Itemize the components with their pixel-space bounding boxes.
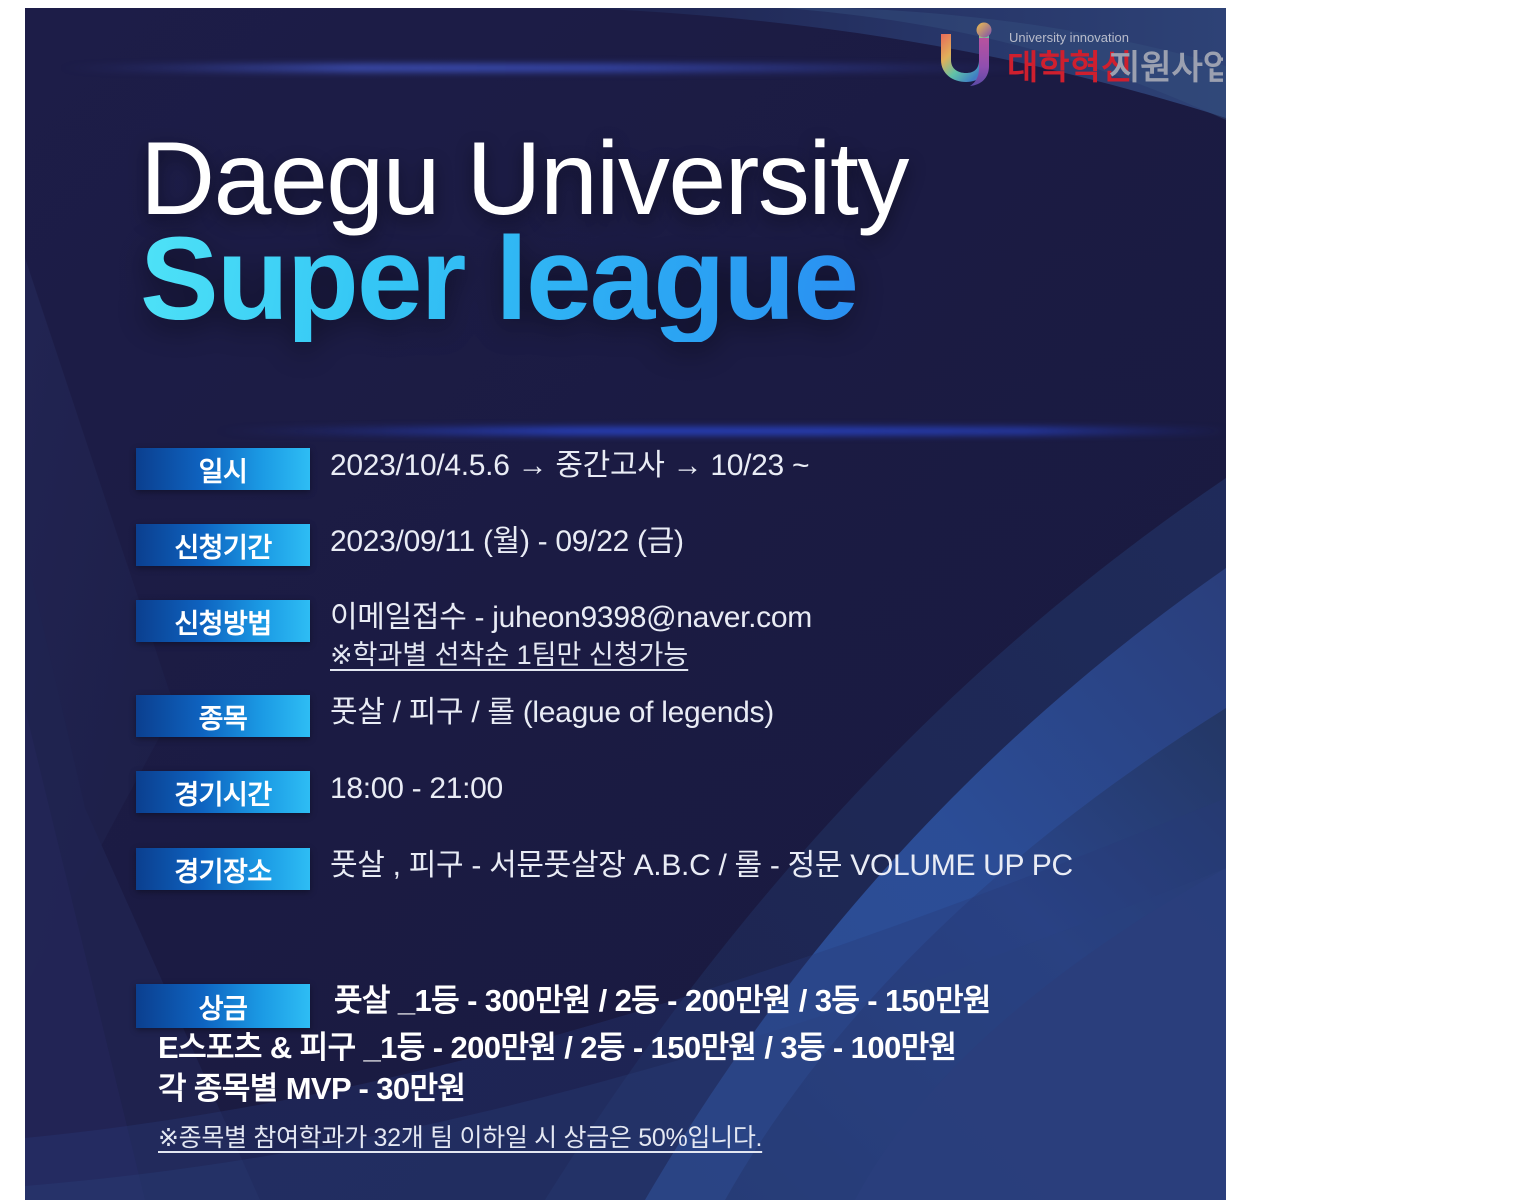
info-row-date: 일시 2023/10/4.5.6 → 중간고사 → 10/23 ~	[136, 448, 1226, 490]
info-list: 일시 2023/10/4.5.6 → 중간고사 → 10/23 ~ 신청기간 2…	[136, 448, 1226, 890]
prize-note: ※종목별 참여학과가 32개 팀 이하일 시 상금은 50%입니다.	[158, 1118, 1226, 1154]
info-value-wrap-application-period: 2023/09/11 (월) - 09/22 (금)	[310, 524, 1226, 561]
info-value-wrap-application-method: 이메일접수 - juheon9398@naver.com ※학과별 선착순 1팀…	[310, 600, 1226, 673]
logo-dot-icon	[977, 23, 992, 38]
info-value-application-period: 2023/09/11 (월) - 09/22 (금)	[330, 524, 1226, 561]
info-value-wrap-events: 풋살 / 피구 / 롤 (league of legends)	[310, 695, 1226, 732]
info-value-wrap-venue: 풋살 , 피구 - 서문풋살장 A.B.C / 롤 - 정문 VOLUME UP…	[310, 848, 1226, 885]
prize-line-futsal: 풋살 _1등 - 300만원 / 2등 - 200만원 / 3등 - 150만원	[310, 984, 991, 1019]
info-row-events: 종목 풋살 / 피구 / 롤 (league of legends)	[136, 695, 1226, 737]
info-label-application-period: 신청기간	[136, 524, 310, 566]
info-value-wrap-match-time: 18:00 - 21:00	[310, 771, 1226, 808]
poster-title: Daegu University Super league	[140, 126, 1190, 342]
poster: University innovation 대학혁신 지원사업 Daegu Un…	[25, 8, 1226, 1200]
info-value-wrap-date: 2023/10/4.5.6 → 중간고사 → 10/23 ~	[310, 448, 1226, 485]
info-label-application-method: 신청방법	[136, 600, 310, 642]
logo-name-gray: 지원사업	[1109, 49, 1223, 87]
prize-line-mvp: 각 종목별 MVP - 30만원	[158, 1069, 1226, 1110]
prize-header-row: 상금 풋살 _1등 - 300만원 / 2등 - 200만원 / 3등 - 15…	[136, 984, 1226, 1028]
info-value-venue: 풋살 , 피구 - 서문풋살장 A.B.C / 롤 - 정문 VOLUME UP…	[330, 848, 1226, 885]
logo-svg: University innovation 대학혁신 지원사업	[933, 22, 1223, 92]
prize-label: 상금	[136, 984, 310, 1028]
prize-section: 상금 풋살 _1등 - 300만원 / 2등 - 200만원 / 3등 - 15…	[136, 984, 1226, 1154]
info-label-match-time: 경기시간	[136, 771, 310, 813]
university-innovation-logo: University innovation 대학혁신 지원사업	[933, 22, 1223, 92]
title-line-2: Super league	[140, 218, 1190, 342]
info-label-date: 일시	[136, 448, 310, 490]
info-label-events: 종목	[136, 695, 310, 737]
info-row-application-period: 신청기간 2023/09/11 (월) - 09/22 (금)	[136, 524, 1226, 566]
info-value-match-time: 18:00 - 21:00	[330, 771, 1226, 808]
info-note-application-method: ※학과별 선착순 1팀만 신청가능	[330, 637, 1226, 673]
info-row-application-method: 신청방법 이메일접수 - juheon9398@naver.com ※학과별 선…	[136, 600, 1226, 673]
info-value-events: 풋살 / 피구 / 롤 (league of legends)	[330, 695, 1226, 732]
info-value-date: 2023/10/4.5.6 → 중간고사 → 10/23 ~	[330, 448, 1226, 485]
info-label-venue: 경기장소	[136, 848, 310, 890]
info-row-venue: 경기장소 풋살 , 피구 - 서문풋살장 A.B.C / 롤 - 정문 VOLU…	[136, 848, 1226, 890]
logo-tagline: University innovation	[1009, 30, 1129, 45]
prize-line-esports-dodgeball: E스포츠 & 피구 _1등 - 200만원 / 2등 - 150만원 / 3등 …	[158, 1028, 1226, 1069]
info-row-match-time: 경기시간 18:00 - 21:00	[136, 771, 1226, 813]
info-value-application-method[interactable]: 이메일접수 - juheon9398@naver.com	[330, 600, 1226, 637]
